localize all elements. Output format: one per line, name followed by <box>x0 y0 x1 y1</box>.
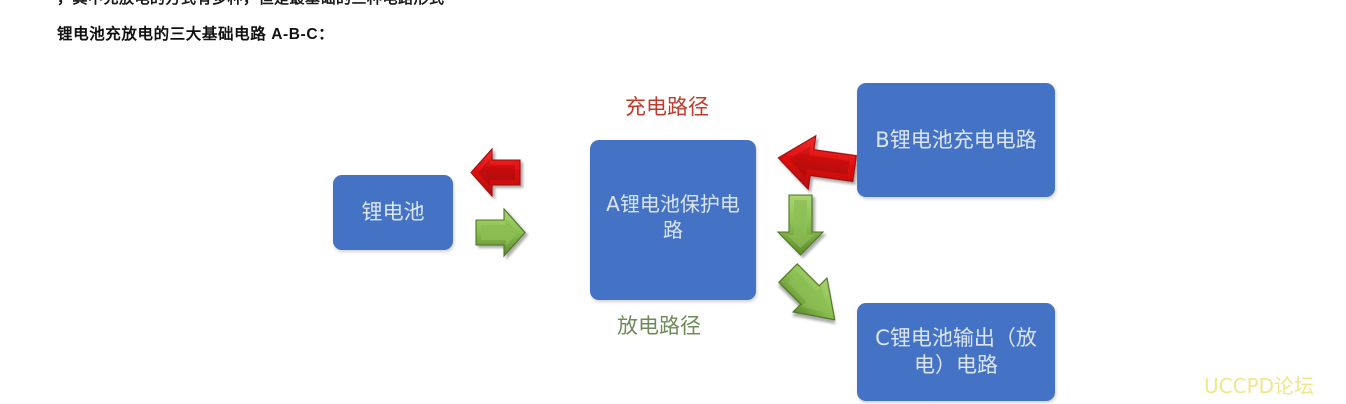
node-charging-circuit-label: B锂电池充电电路 <box>875 127 1036 154</box>
arrow-battery-to-a-icon <box>476 209 525 256</box>
arrow-a-to-battery-icon <box>471 149 520 196</box>
node-protection-circuit[interactable]: A锂电池保护电路 <box>590 140 756 300</box>
node-protection-circuit-label: A锂电池保护电路 <box>600 192 746 243</box>
discharge-path-label: 放电路径 <box>617 310 701 340</box>
node-battery[interactable]: 锂电池 <box>333 175 453 250</box>
watermark: UCCPD论坛 <box>1204 370 1314 399</box>
charge-path-label: 充电路径 <box>625 91 709 121</box>
node-battery-label: 锂电池 <box>362 199 425 226</box>
arrow-a-down-icon <box>778 195 823 255</box>
node-charging-circuit[interactable]: B锂电池充电电路 <box>857 83 1055 197</box>
circuit-flow-diagram: 锂电池 A锂电池保护电路 B锂电池充电电路 C锂电池输出（放电）电路 充电路径 … <box>0 0 1346 404</box>
node-output-circuit[interactable]: C锂电池输出（放电）电路 <box>857 303 1055 401</box>
node-output-circuit-label: C锂电池输出（放电）电路 <box>865 325 1047 379</box>
arrow-a-to-c-icon <box>771 256 852 337</box>
arrow-b-to-a-icon <box>775 131 859 195</box>
